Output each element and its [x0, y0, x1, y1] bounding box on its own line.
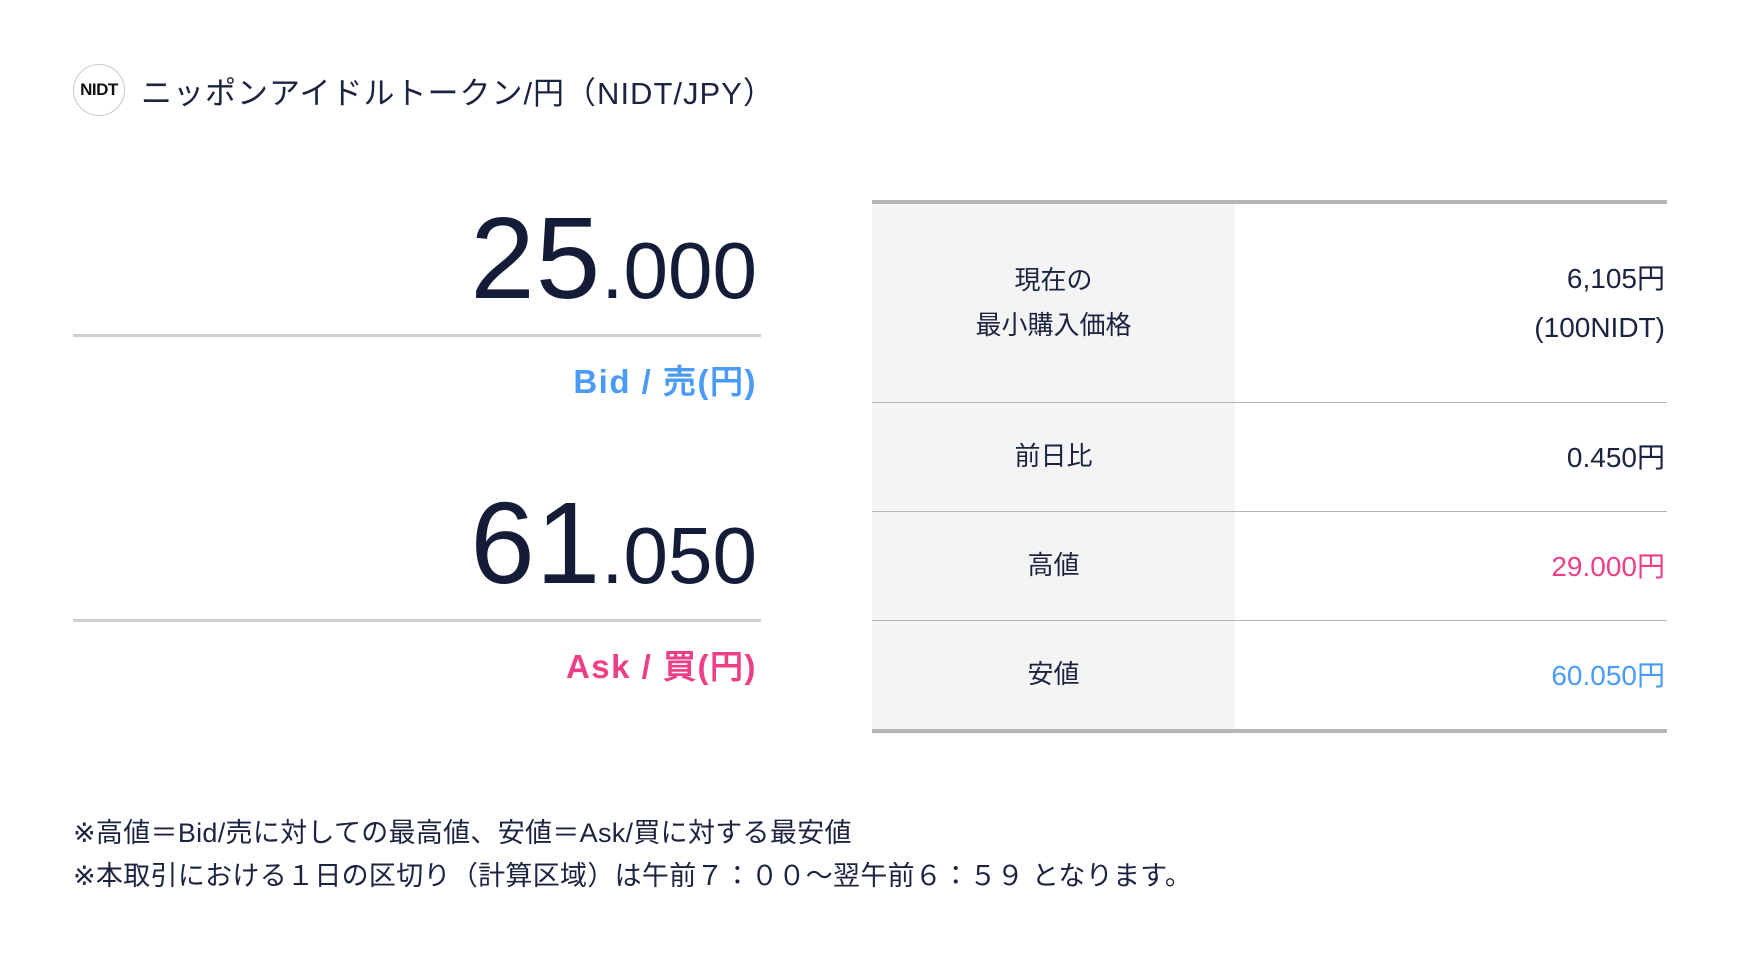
quote-column: 25.000 Bid / 売(円) 61.050 Ask / 買(円) — [73, 200, 761, 688]
row-label-daily-change: 前日比 — [872, 403, 1235, 511]
value-line-1: 6,105円 — [1567, 254, 1665, 303]
label-line-2: 最小購入価格 — [975, 303, 1131, 349]
row-value-high: 29.000円 — [1235, 512, 1667, 620]
bid-divider — [73, 334, 761, 337]
value-line-1: 29.000円 — [1551, 542, 1665, 591]
ask-label: Ask / 買(円) — [73, 640, 761, 688]
ask-price-decimal: .050 — [601, 511, 757, 600]
footnotes: ※高値＝Bid/売に対しての最高値、安値＝Ask/買に対する最安値 ※本取引にお… — [73, 812, 1192, 897]
ask-quote-block: 61.050 Ask / 買(円) — [73, 485, 761, 688]
bid-label: Bid / 売(円) — [73, 355, 761, 403]
row-value-daily-change: 0.450円 — [1235, 403, 1667, 511]
ask-price-integer: 61 — [470, 478, 601, 608]
value-line-1: 0.450円 — [1567, 433, 1665, 482]
page-title: ニッポンアイドルトークン/円（NIDT/JPY） — [141, 68, 775, 113]
bid-price-integer: 25 — [470, 193, 601, 323]
nidt-token-icon: NIDT — [73, 64, 125, 116]
pair-header: NIDT ニッポンアイドルトークン/円（NIDT/JPY） — [73, 64, 775, 116]
row-label-min-purchase: 現在の 最小購入価格 — [872, 204, 1235, 402]
price-panel: NIDT ニッポンアイドルトークン/円（NIDT/JPY） 25.000 Bid… — [0, 0, 1745, 962]
table-row: 前日比 0.450円 — [872, 402, 1667, 511]
bid-quote-block: 25.000 Bid / 売(円) — [73, 200, 761, 403]
market-info-table: 現在の 最小購入価格 6,105円 (100NIDT) 前日比 0.450円 高… — [872, 200, 1667, 733]
row-value-min-purchase: 6,105円 (100NIDT) — [1235, 204, 1667, 402]
label-line-1: 安値 — [1027, 652, 1079, 698]
label-line-1: 現在の — [1014, 258, 1092, 304]
table-row: 安値 60.050円 — [872, 620, 1667, 729]
footnote-daily-cutoff: ※本取引における１日の区切り（計算区域）は午前７：００〜翌午前６：５９ となりま… — [73, 855, 1192, 898]
footnote-high-low: ※高値＝Bid/売に対しての最高値、安値＝Ask/買に対する最安値 — [73, 812, 1192, 855]
row-value-low: 60.050円 — [1235, 621, 1667, 729]
ask-price: 61.050 — [73, 485, 761, 601]
table-row: 高値 29.000円 — [872, 511, 1667, 620]
bid-price: 25.000 — [73, 200, 761, 316]
row-label-low: 安値 — [872, 621, 1235, 729]
value-line-2: (100NIDT) — [1534, 303, 1665, 352]
bid-price-decimal: .000 — [601, 226, 757, 315]
table-row: 現在の 最小購入価格 6,105円 (100NIDT) — [872, 204, 1667, 402]
nidt-logo-label: NIDT — [80, 80, 118, 100]
row-label-high: 高値 — [872, 512, 1235, 620]
value-line-1: 60.050円 — [1551, 651, 1665, 700]
label-line-1: 高値 — [1027, 543, 1079, 589]
ask-divider — [73, 619, 761, 622]
label-line-1: 前日比 — [1014, 434, 1092, 480]
